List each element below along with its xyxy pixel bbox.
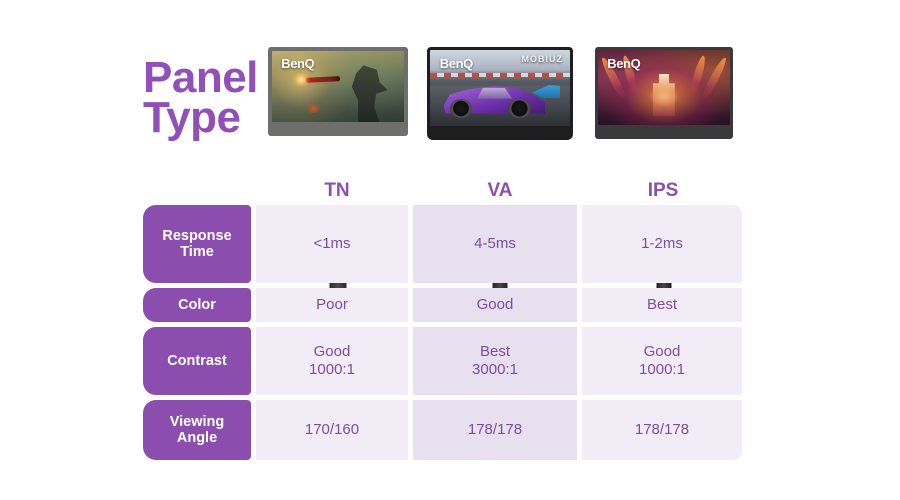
monitor-image-va: BenQ MOBIUZ	[420, 40, 580, 175]
cell-viewing-angle-va: 178/178	[413, 400, 577, 460]
table-row: Response Time <1ms 4-5ms 1-2ms	[143, 205, 742, 283]
row-label-text: Response Time	[149, 228, 245, 260]
row-label-color: Color	[143, 288, 251, 322]
monitor-image-ips: BenQ	[584, 40, 744, 175]
cell-color-tn: Poor	[256, 288, 408, 322]
comparison-table: Response Time <1ms 4-5ms 1-2ms Color	[143, 205, 742, 465]
cell-contrast-tn: Good 1000:1	[256, 327, 408, 395]
mobiuz-logo: MOBIUZ	[522, 54, 564, 64]
row-label-contrast: Contrast	[143, 327, 251, 395]
column-header-tn: TN	[267, 180, 407, 202]
panel-type-infographic: Panel Type BenQ	[0, 0, 900, 500]
monitor-screen-va: BenQ MOBIUZ	[430, 50, 570, 126]
row-label-viewing-angle: Viewing Angle	[143, 400, 251, 460]
cell-viewing-angle-tn: 170/160	[256, 400, 408, 460]
monitor-bezel-tn: BenQ	[268, 47, 408, 136]
cell-color-ips: Best	[582, 288, 742, 322]
row-cells: Poor Good Best	[251, 288, 742, 322]
row-cells: Good 1000:1 Best 3000:1 Good 1000:1	[251, 327, 742, 395]
cell-contrast-ips: Good 1000:1	[582, 327, 742, 395]
cell-response-time-ips: 1-2ms	[582, 205, 742, 283]
cell-viewing-angle-ips: 178/178	[582, 400, 742, 460]
column-header-ips: IPS	[593, 180, 733, 202]
row-label-text: Contrast	[167, 353, 227, 369]
benq-logo-tn: BenQ	[281, 57, 314, 70]
row-label-response-time: Response Time	[143, 205, 251, 283]
cell-contrast-va: Best 3000:1	[413, 327, 577, 395]
row-label-text: Viewing Angle	[149, 414, 245, 446]
table-row: Viewing Angle 170/160 178/178 178/178	[143, 400, 742, 460]
cell-response-time-tn: <1ms	[256, 205, 408, 283]
monitor-screen-ips: BenQ	[598, 50, 730, 125]
benq-logo-ips: BenQ	[607, 57, 640, 70]
cell-response-time-va: 4-5ms	[413, 205, 577, 283]
monitor-bezel-ips: BenQ	[595, 47, 733, 139]
row-cells: <1ms 4-5ms 1-2ms	[251, 205, 742, 283]
monitor-bezel-va: BenQ MOBIUZ	[427, 47, 573, 140]
game-character-shape	[345, 65, 390, 122]
table-row: Color Poor Good Best	[143, 288, 742, 322]
muzzle-flash-shape	[290, 73, 311, 86]
abstract-center-glow	[653, 74, 675, 116]
monitor-screen-tn: BenQ	[272, 51, 404, 122]
row-label-text: Color	[178, 297, 216, 313]
column-header-va: VA	[430, 180, 570, 202]
cell-color-va: Good	[413, 288, 577, 322]
table-row: Contrast Good 1000:1 Best 3000:1	[143, 327, 742, 395]
row-cells: 170/160 178/178 178/178	[251, 400, 742, 460]
track-curb-shape	[430, 73, 570, 77]
monitor-image-tn: BenQ	[258, 40, 418, 175]
scene-highlight-shape	[306, 104, 321, 113]
benq-logo-va: BenQ	[440, 57, 473, 70]
race-car-wheel-rear	[508, 99, 530, 119]
